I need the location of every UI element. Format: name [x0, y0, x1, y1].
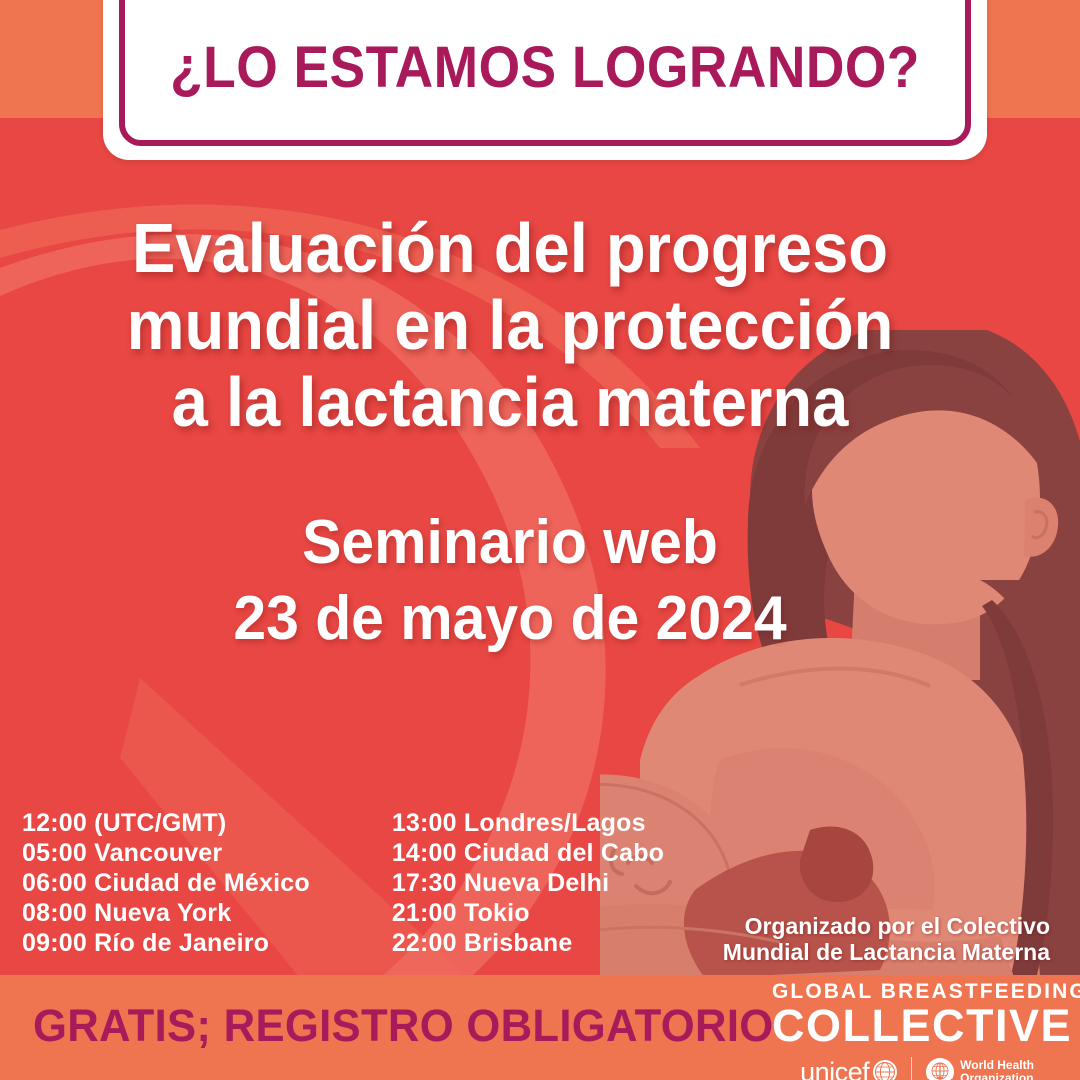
unicef-globe-icon — [872, 1059, 898, 1080]
organizer-line-1: Organizado por el Colectivo — [720, 913, 1050, 939]
webinar-date: 23 de mayo de 2024 — [83, 581, 938, 657]
webinar-date-block: Seminario web 23 de mayo de 2024 — [83, 505, 938, 657]
headline-line-2: mundial en la protección — [92, 287, 929, 364]
headline-line-3: a la lactancia materna — [92, 364, 929, 441]
timezone-row: 13:00 Londres/Lagos — [392, 808, 664, 838]
page-title: ¿LO ESTAMOS LOGRANDO? — [138, 34, 951, 101]
who-wordmark: World Health Organization — [960, 1059, 1034, 1080]
timezone-row: 05:00 Vancouver — [22, 838, 310, 868]
timezone-row: 08:00 Nueva York — [22, 898, 310, 928]
timezone-row: 22:00 Brisbane — [392, 928, 664, 958]
header-card: ¿LO ESTAMOS LOGRANDO? — [103, 0, 987, 160]
timezone-row: 21:00 Tokio — [392, 898, 664, 928]
webinar-promo-poster: ¿LO ESTAMOS LOGRANDO? Evaluación del pro… — [0, 0, 1080, 1080]
who-logo: World Health Organization — [925, 1057, 1034, 1080]
partner-logos-row: unicef — [772, 1057, 1062, 1080]
collective-wordmark: COLLECTIVE — [772, 1003, 1062, 1048]
headline-line-1: Evaluación del progreso — [92, 210, 929, 287]
organizer-credit: Organizado por el Colectivo Mundial de L… — [720, 913, 1050, 965]
timezone-column-left: 12:00 (UTC/GMT) 05:00 Vancouver 06:00 Ci… — [22, 808, 310, 958]
unicef-logo: unicef — [800, 1059, 898, 1080]
organizer-line-2: Mundial de Lactancia Materna — [720, 939, 1050, 965]
timezone-row: 06:00 Ciudad de México — [22, 868, 310, 898]
timezone-column-right: 13:00 Londres/Lagos 14:00 Ciudad del Cab… — [392, 808, 664, 958]
unicef-wordmark: unicef — [800, 1059, 869, 1080]
webinar-label: Seminario web — [83, 505, 938, 581]
timezone-row: 14:00 Ciudad del Cabo — [392, 838, 664, 868]
logo-lockup: GLOBAL BREASTFEEDING COLLECTIVE unicef — [772, 980, 1062, 1080]
main-headline: Evaluación del progreso mundial en la pr… — [92, 210, 929, 441]
who-line-2: Organization — [960, 1072, 1034, 1080]
who-emblem-icon — [925, 1057, 955, 1080]
timezone-row: 12:00 (UTC/GMT) — [22, 808, 310, 838]
timezone-row: 17:30 Nueva Delhi — [392, 868, 664, 898]
logo-divider — [911, 1057, 912, 1080]
timezone-row: 09:00 Río de Janeiro — [22, 928, 310, 958]
timezone-list: 12:00 (UTC/GMT) 05:00 Vancouver 06:00 Ci… — [22, 808, 664, 958]
registration-notice: GRATIS; REGISTRO OBLIGATORIO — [33, 1000, 774, 1052]
